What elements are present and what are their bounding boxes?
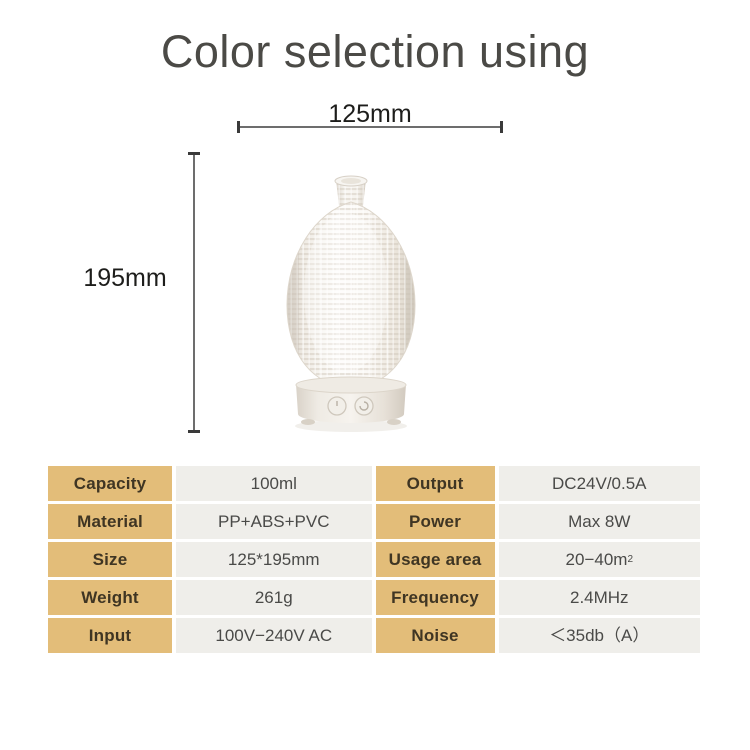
- product-spec-page: Color selection using 125mm 195mm: [0, 0, 750, 750]
- spec-label-input: Input: [48, 618, 172, 653]
- width-dimension-label: 125mm: [237, 100, 503, 129]
- spec-label-size: Size: [48, 542, 172, 577]
- light-button: [355, 397, 373, 415]
- table-row: Material PP+ABS+PVC Power Max 8W: [48, 504, 700, 539]
- specification-table: Capacity 100ml Output DC24V/0.5A Materia…: [48, 466, 700, 653]
- table-row: Input 100V−240V AC Noise ＜35db（A）: [48, 618, 700, 653]
- table-row: Capacity 100ml Output DC24V/0.5A: [48, 466, 700, 501]
- spec-label-material: Material: [48, 504, 172, 539]
- spec-value-input: 100V−240V AC: [176, 618, 371, 653]
- table-row: Weight 261g Frequency 2.4MHz: [48, 580, 700, 615]
- spec-value-output: DC24V/0.5A: [499, 466, 700, 501]
- table-row: Size 125*195mm Usage area 20−40m2: [48, 542, 700, 577]
- spec-label-power: Power: [376, 504, 495, 539]
- width-dimension-line: [237, 126, 503, 128]
- spec-value-noise: ＜35db（A）: [499, 618, 700, 653]
- spec-value-usage-area: 20−40m2: [499, 542, 700, 577]
- page-title: Color selection using: [0, 26, 750, 78]
- spec-label-output: Output: [376, 466, 495, 501]
- spec-value-size: 125*195mm: [176, 542, 371, 577]
- spec-label-noise: Noise: [376, 618, 495, 653]
- spec-value-capacity: 100ml: [176, 466, 371, 501]
- product-image: [258, 168, 444, 436]
- spec-label-capacity: Capacity: [48, 466, 172, 501]
- height-dimension-label: 195mm: [70, 264, 180, 293]
- spec-value-frequency: 2.4MHz: [499, 580, 700, 615]
- spec-label-usage-area: Usage area: [376, 542, 495, 577]
- spec-label-weight: Weight: [48, 580, 172, 615]
- spec-value-power: Max 8W: [499, 504, 700, 539]
- spec-label-frequency: Frequency: [376, 580, 495, 615]
- usage-area-number: 20−40m: [566, 551, 628, 568]
- height-dimension-line: [193, 152, 195, 433]
- spec-value-weight: 261g: [176, 580, 371, 615]
- usage-area-superscript: 2: [627, 555, 633, 565]
- spec-value-material: PP+ABS+PVC: [176, 504, 371, 539]
